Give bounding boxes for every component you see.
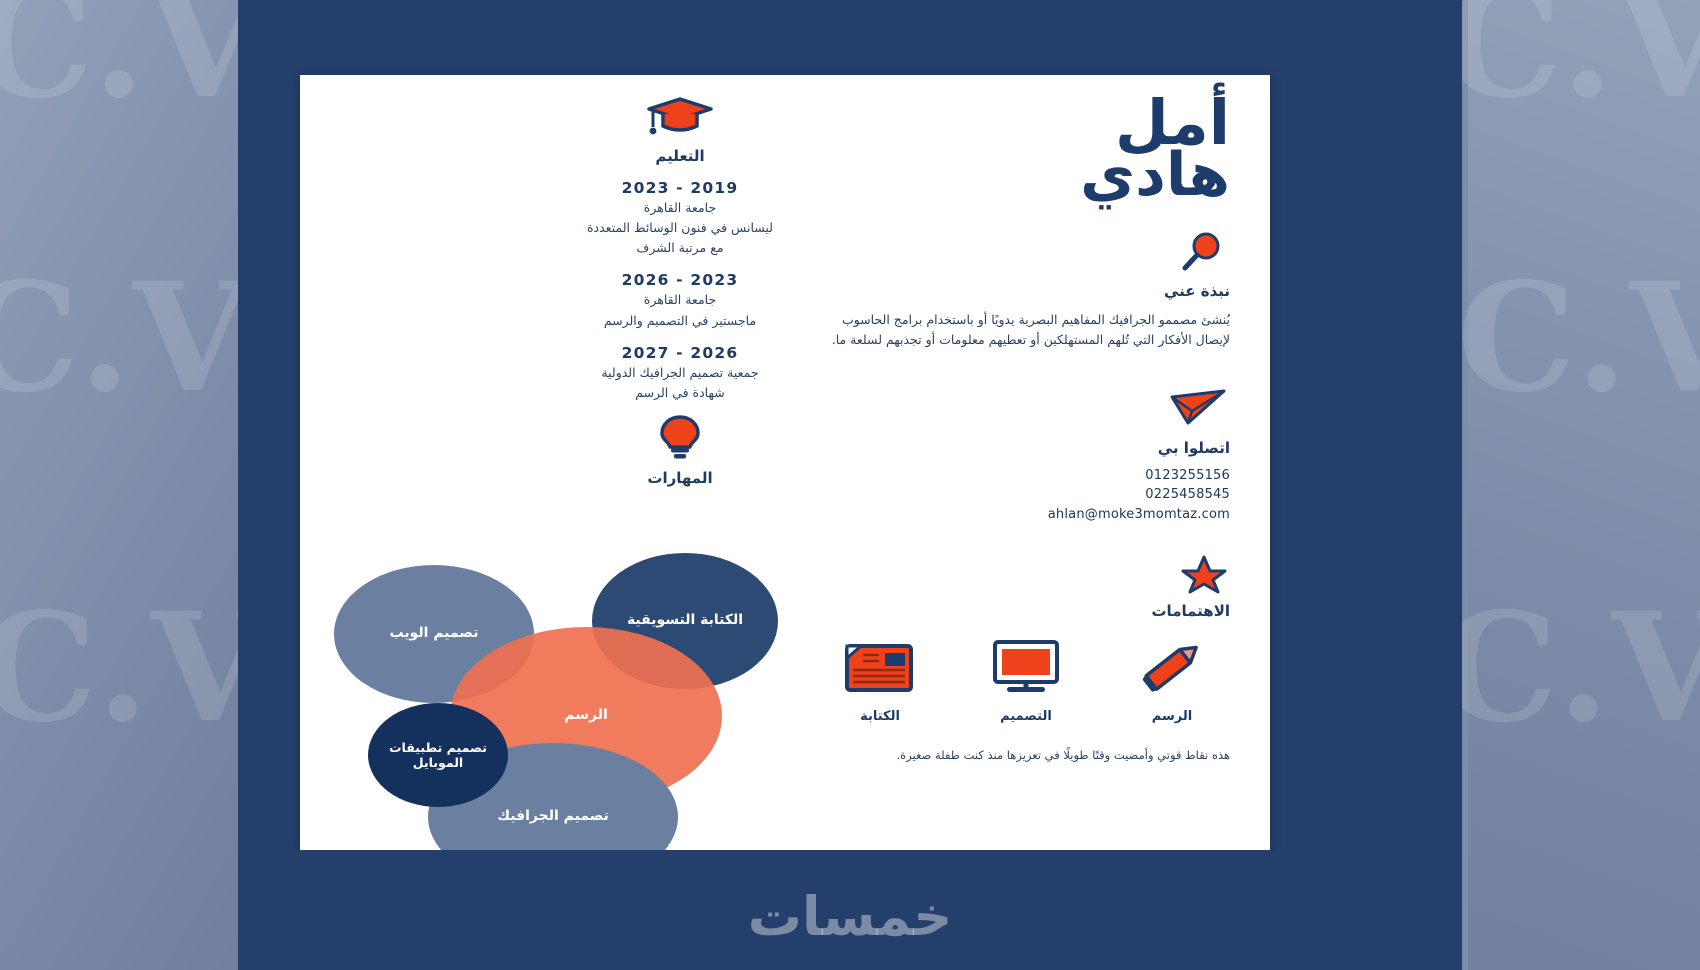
resume-right-column: أمل هادي نبذة عني يُنشئ مصممو الجرافيك ا…: [830, 93, 1230, 765]
interest-item: التصميم: [976, 636, 1076, 724]
star-icon: [830, 554, 1230, 598]
education-years: 2023 - 2019: [540, 179, 820, 197]
interests-section-header: الاهتمامات: [830, 554, 1230, 620]
education-years: 2026 - 2023: [540, 271, 820, 289]
education-entry: 2026 - 2023 جامعة القاهرة ماجستير في الت…: [540, 271, 820, 329]
cv-watermark: C.V: [0, 580, 269, 756]
education-note: مع مرتبة الشرف: [540, 239, 820, 257]
contact-title: اتصلوا بي: [830, 439, 1230, 457]
backdrop-left-panel: C.V C.V C.V: [0, 0, 258, 970]
paper-plane-icon: [830, 387, 1230, 433]
cv-watermark: C.V: [0, 250, 251, 426]
interests-footnote: هذه نقاط قوتي وأمضيت وقتًا طويلًا في تعز…: [830, 746, 1230, 765]
interest-item: الرسم: [1122, 636, 1222, 724]
education-title: التعليم: [540, 147, 820, 165]
education-entry: 2023 - 2019 جامعة القاهرة ليسانس في فنون…: [540, 179, 820, 257]
contact-phone-1: 0123255156: [830, 466, 1230, 486]
interest-label: الرسم: [1122, 709, 1222, 724]
about-title: نبذة عني: [830, 282, 1230, 300]
skill-bubble[interactable]: تصميم تطبيقات الموبايل: [368, 703, 508, 807]
education-degree: ماجستير في التصميم والرسم: [540, 312, 820, 330]
education-degree: شهادة في الرسم: [540, 384, 820, 402]
skills-bubble-chart: تصميم الويب الكتابة التسويقية الرسم تصمي…: [320, 475, 840, 845]
graduation-cap-icon: [540, 93, 820, 143]
pencil-icon: [1122, 636, 1222, 702]
education-entry: 2027 - 2026 جمعية تصميم الجرافيك الدولية…: [540, 344, 820, 402]
education-section: التعليم 2023 - 2019 جامعة القاهرة ليسانس…: [540, 93, 820, 402]
interests-list: الكتابة التصميم: [830, 636, 1230, 724]
contact-email[interactable]: ahlan@moke3momtaz.com: [830, 505, 1230, 525]
cv-watermark: C.V: [1439, 580, 1700, 756]
education-years: 2027 - 2026: [540, 344, 820, 362]
monitor-icon: [976, 636, 1076, 702]
site-watermark: خمسات: [238, 885, 1462, 948]
education-place: جامعة القاهرة: [540, 291, 820, 309]
interest-label: الكتابة: [830, 709, 930, 724]
about-text: يُنشئ مصممو الجرافيك المفاهيم البصرية يد…: [830, 310, 1230, 351]
contact-details: 0123255156 0225458545 ahlan@moke3momtaz.…: [830, 466, 1230, 525]
cv-watermark: C.V: [1443, 0, 1700, 132]
education-place: جمعية تصميم الجرافيك الدولية: [540, 364, 820, 382]
backdrop-right-panel: C.V C.V C.V: [1468, 0, 1700, 970]
newspaper-icon: [830, 636, 930, 702]
screenshot-stage: C.V C.V C.V C.V C.V C.V أمل هادي: [0, 0, 1700, 970]
about-section-header: نبذة عني: [830, 230, 1230, 300]
contact-phone-2: 0225458545: [830, 485, 1230, 505]
cv-watermark: C.V: [1457, 250, 1700, 426]
name-line-2: هادي: [830, 147, 1230, 205]
contact-section-header: اتصلوا بي: [830, 387, 1230, 457]
interest-label: التصميم: [976, 709, 1076, 724]
interests-title: الاهتمامات: [830, 602, 1230, 620]
education-section-header: التعليم: [540, 93, 820, 165]
resume-sheet: أمل هادي نبذة عني يُنشئ مصممو الجرافيك ا…: [300, 75, 1270, 850]
education-degree: ليسانس في فنون الوسائط المتعددة: [540, 219, 820, 237]
cv-watermark: C.V: [0, 0, 265, 132]
education-place: جامعة القاهرة: [540, 199, 820, 217]
page-title: أمل هادي: [830, 93, 1230, 204]
lightbulb-icon: [540, 413, 820, 465]
interest-item: الكتابة: [830, 636, 930, 724]
bottom-navy-bar: خمسات: [238, 850, 1462, 970]
magnifier-icon: [830, 230, 1230, 278]
